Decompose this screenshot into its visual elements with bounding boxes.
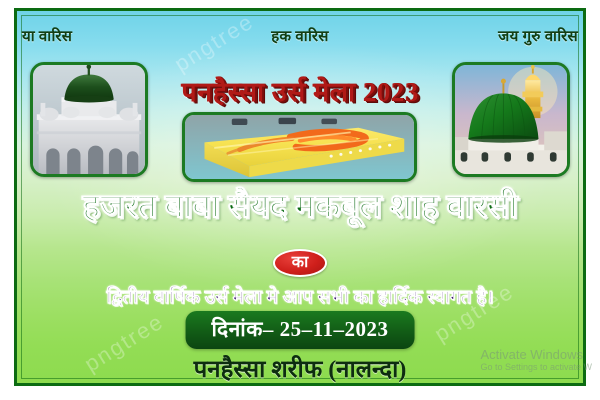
masjid-nabawi-green-dome-photo [452,62,570,177]
welcome-line: द्वितीय वार्षिक उर्स मेला मे आप सभी का ह… [10,283,590,309]
place-line: पनहैस्सा शरीफ (नालन्दा) [194,352,407,385]
mazar-yellow-chadar-photo [182,112,417,182]
slogan-right: जय गुरु वारिस [498,26,578,46]
slogan-center: हक वारिस [271,26,328,46]
slogan-left: या वारिस [22,26,72,46]
urs-mela-poster: या वारिस हक वारिस जय गुरु वारिस [0,0,600,400]
dargah-white-mosque-green-dome-photo [30,62,148,177]
ka-badge: का [273,249,327,277]
event-date-banner: दिनांक– 25–11–2023 [186,311,415,349]
saint-name-heading: हजरत बाबा सैयद मकबूल शाह वारसी [20,190,580,225]
mela-title: पनहैस्सा उर्स मेला 2023 [181,72,418,109]
